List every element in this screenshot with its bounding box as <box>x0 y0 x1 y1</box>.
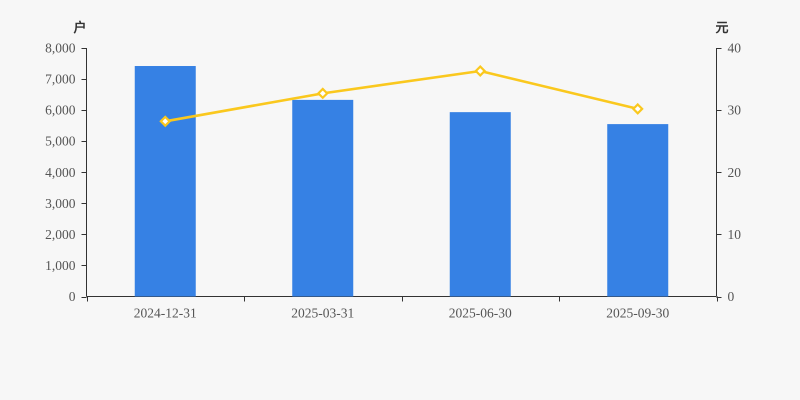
left-axis-tick-label: 4,000 <box>45 165 76 180</box>
x-axis-category-label: 2025-06-30 <box>449 306 512 321</box>
left-axis-tick-label: 7,000 <box>45 72 76 87</box>
bar[interactable] <box>607 124 668 296</box>
right-axis-tick-label: 40 <box>728 41 742 56</box>
right-axis-tick-label: 30 <box>728 103 742 118</box>
left-axis-tick-label: 8,000 <box>45 41 76 56</box>
bar[interactable] <box>292 100 353 297</box>
right-axis-unit-label: 元 <box>715 21 728 36</box>
bar[interactable] <box>450 112 511 296</box>
right-axis-tick-label: 0 <box>728 289 735 304</box>
left-axis-tick-label: 6,000 <box>45 103 76 118</box>
shareholder-count-and-avg-holding-chart: 户 元 01,0002,0003,0004,0005,0006,0007,000… <box>0 0 800 400</box>
x-axis-category-label: 2025-09-30 <box>606 306 669 321</box>
left-axis-tick-label: 1,000 <box>45 258 76 273</box>
chart-background <box>0 0 800 400</box>
left-axis-tick-label: 0 <box>69 289 76 304</box>
right-axis-tick-label: 10 <box>728 227 742 242</box>
bar[interactable] <box>135 66 196 296</box>
left-axis-tick-label: 3,000 <box>45 196 76 211</box>
x-axis-category-label: 2025-03-31 <box>291 306 354 321</box>
right-axis-tick-label: 20 <box>728 165 742 180</box>
left-axis-tick-label: 5,000 <box>45 134 76 149</box>
x-axis-category-label: 2024-12-31 <box>134 306 197 321</box>
chart-container: 户 元 01,0002,0003,0004,0005,0006,0007,000… <box>0 0 800 400</box>
left-axis-tick-label: 2,000 <box>45 227 76 242</box>
left-axis-unit-label: 户 <box>73 20 86 36</box>
